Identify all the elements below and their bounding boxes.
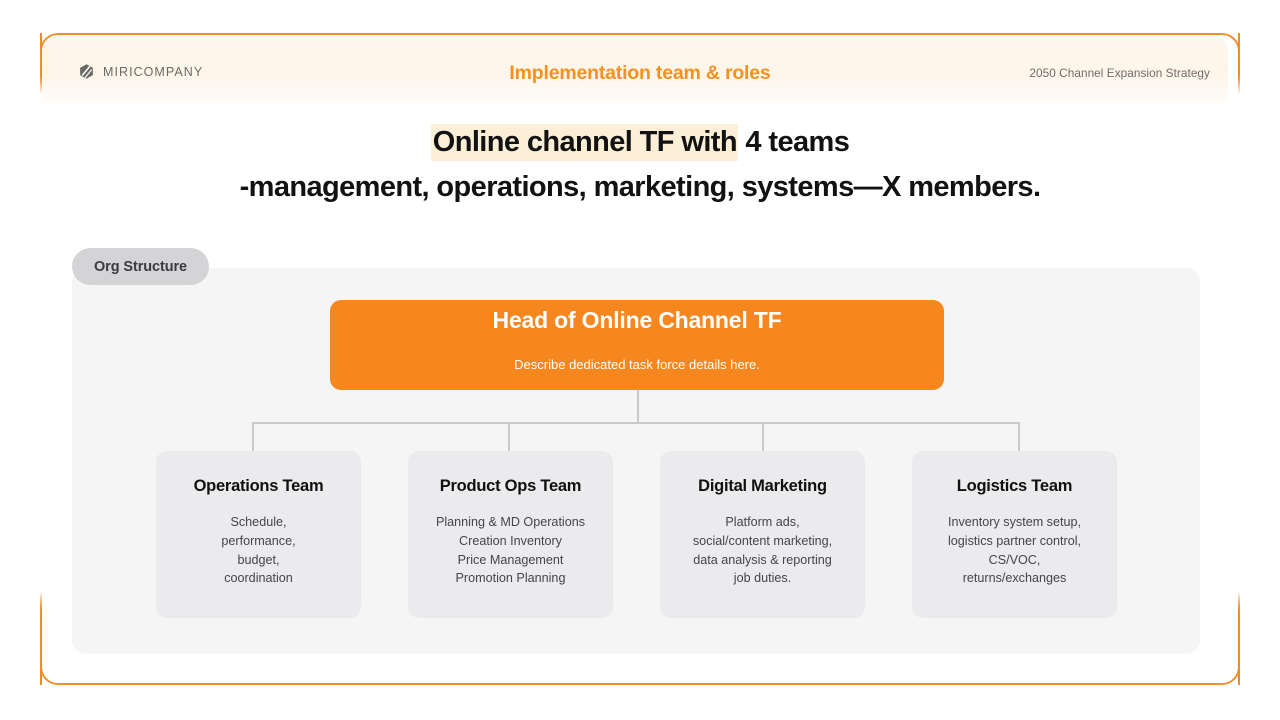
team-card-product-ops[interactable]: Product Ops Team Planning & MD Operation… bbox=[408, 451, 613, 618]
team-card-title: Digital Marketing bbox=[660, 477, 865, 496]
slide-root: MIRICOMPANY Implementation team & roles … bbox=[0, 0, 1280, 720]
team-card-title: Operations Team bbox=[156, 477, 361, 496]
org-root-title: Head of Online Channel TF bbox=[467, 304, 807, 337]
org-root-subtitle: Describe dedicated task force details he… bbox=[330, 357, 944, 372]
team-card-title: Product Ops Team bbox=[408, 477, 613, 496]
team-card-logistics[interactable]: Logistics Team Inventory system setup, l… bbox=[912, 451, 1117, 618]
team-card-description: Inventory system setup, logistics partne… bbox=[912, 513, 1117, 588]
headline-line-1-rest: 4 teams bbox=[738, 126, 849, 158]
team-card-title: Logistics Team bbox=[912, 477, 1117, 496]
team-card-description: Schedule, performance, budget, coordinat… bbox=[156, 513, 361, 588]
headline-line-2: -management, operations, marketing, syst… bbox=[0, 171, 1280, 203]
team-card-operations[interactable]: Operations Team Schedule, performance, b… bbox=[156, 451, 361, 618]
connector-horizontal-bar bbox=[252, 422, 1020, 424]
connector-stem bbox=[637, 390, 639, 423]
connector-drop-1 bbox=[252, 423, 254, 451]
connector-drop-2 bbox=[508, 423, 510, 451]
team-card-description: Planning & MD Operations Creation Invent… bbox=[408, 513, 613, 588]
team-card-digital-marketing[interactable]: Digital Marketing Platform ads, social/c… bbox=[660, 451, 865, 618]
headline-line-1: Online channel TF with 4 teams bbox=[0, 126, 1280, 158]
team-card-description: Platform ads, social/content marketing, … bbox=[660, 513, 865, 588]
headline-highlight: Online channel TF with bbox=[431, 124, 738, 161]
page-headline: Online channel TF with 4 teams -manageme… bbox=[0, 126, 1280, 204]
org-structure-badge: Org Structure bbox=[72, 248, 209, 285]
connector-drop-3 bbox=[762, 423, 764, 451]
org-root-node[interactable]: Head of Online Channel TF Describe dedic… bbox=[330, 300, 944, 390]
connector-drop-4 bbox=[1018, 423, 1020, 451]
header-right-label: 2050 Channel Expansion Strategy bbox=[1029, 66, 1210, 80]
